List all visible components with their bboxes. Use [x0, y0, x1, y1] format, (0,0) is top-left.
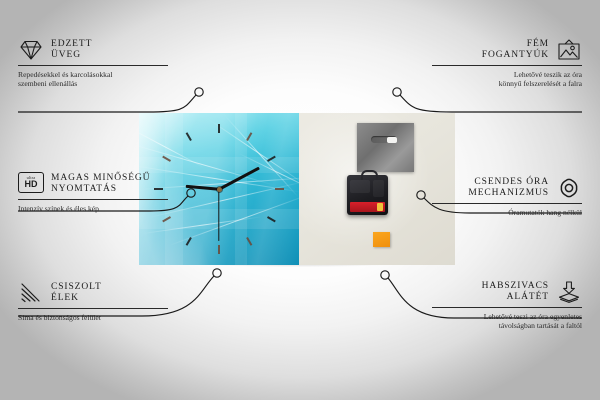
feature-title: FÉM FOGANTYÚK — [482, 39, 549, 62]
feature-header: EDZETT ÜVEG — [18, 38, 168, 62]
feature-title: CSENDES ÓRA MECHANIZMUS — [468, 177, 549, 200]
feature-foam-pad: HABSZIVACS ALÁTÉT Lehetővé teszi az óra … — [432, 280, 582, 331]
feature-header: HABSZIVACS ALÁTÉT — [432, 280, 582, 304]
metal-hanger-plate — [357, 123, 414, 172]
ultra-hd-icon: ultra HD — [18, 172, 44, 196]
feature-silent-mechanism: CSENDES ÓRA MECHANIZMUS Óramutatók hang … — [432, 176, 582, 217]
feature-polished-edges: CSISZOLT ÉLEK Sima és biztonságos felüle… — [18, 281, 168, 322]
feature-header: CSENDES ÓRA MECHANIZMUS — [432, 176, 582, 200]
feature-title: CSISZOLT ÉLEK — [51, 282, 102, 305]
divider — [18, 65, 168, 66]
polished-edge-icon — [18, 281, 44, 305]
divider — [432, 203, 582, 204]
gear-icon — [556, 176, 582, 200]
feature-description: Lehetővé teszi az óra egyenletes távolsá… — [432, 312, 582, 331]
clock-hour-hand — [186, 184, 219, 190]
feature-description: Repedésekkel és karcolásokkal szembeni e… — [18, 70, 168, 89]
picture-frame-hanger-icon — [556, 38, 582, 62]
product-image — [139, 113, 455, 265]
infographic-canvas: EDZETT ÜVEG Repedésekkel és karcolásokka… — [0, 0, 600, 400]
feature-metal-hangers: FÉM FOGANTYÚK Lehetővé teszik az óra kön… — [432, 38, 582, 89]
feature-hd-print: ultra HD MAGAS MINŐSÉGŰ NYOMTATÁS Intenz… — [18, 172, 168, 213]
clock-mechanism — [347, 175, 388, 215]
divider — [432, 65, 582, 66]
foam-pad-icon — [556, 280, 582, 304]
feature-description: Sima és biztonságos felület — [18, 313, 168, 323]
feature-title: HABSZIVACS ALÁTÉT — [482, 281, 549, 304]
foam-spacer-pad — [373, 232, 390, 247]
feature-tempered-glass: EDZETT ÜVEG Repedésekkel és karcolásokka… — [18, 38, 168, 89]
feature-header: CSISZOLT ÉLEK — [18, 281, 168, 305]
clock-minute-hand — [218, 167, 259, 191]
feature-description: Intenzív színek és éles kép — [18, 204, 168, 214]
feature-title: MAGAS MINŐSÉGŰ NYOMTATÁS — [51, 173, 150, 196]
feature-title: EDZETT ÜVEG — [51, 39, 92, 62]
clock-center-pin — [217, 187, 222, 192]
diamond-icon — [18, 38, 44, 62]
divider — [18, 308, 168, 309]
battery-compartment — [350, 202, 385, 212]
feature-description: Óramutatók hang nélkül — [432, 208, 582, 218]
clock-second-hand — [218, 189, 219, 241]
divider — [18, 199, 168, 200]
divider — [432, 307, 582, 308]
feature-description: Lehetővé teszik az óra könnyű felszerelé… — [432, 70, 582, 89]
feature-header: FÉM FOGANTYÚK — [432, 38, 582, 62]
feature-header: ultra HD MAGAS MINŐSÉGŰ NYOMTATÁS — [18, 172, 168, 196]
